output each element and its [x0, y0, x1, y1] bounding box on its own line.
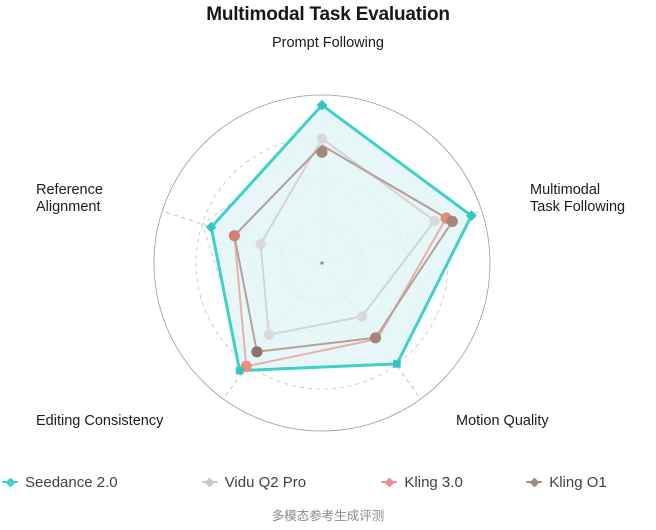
axis-label-editing-consistency: Editing Consistency: [36, 413, 163, 430]
series-seedance-2-0-area: [211, 105, 471, 371]
axis-label-prompt-following: Prompt Following: [0, 35, 656, 52]
diamond-line-marker-icon: [381, 477, 397, 487]
radar-chart-card: Multimodal Task Evaluation: [0, 0, 656, 530]
diamond-line-marker-icon: [526, 477, 542, 487]
axis-label-reference-alignment: Reference Alignment: [36, 182, 166, 216]
diamond-line-marker-icon: [202, 477, 218, 487]
legend-item-kling-o1[interactable]: Kling O1: [526, 474, 656, 491]
chart-legend: Seedance 2.0 Vidu Q2 Pro Kling 3.0 Kling…: [0, 470, 656, 494]
legend-label-kling-o1: Kling O1: [549, 474, 607, 491]
legend-item-vidu-q2-pro[interactable]: Vidu Q2 Pro: [202, 474, 382, 491]
legend-label-seedance-2-0: Seedance 2.0: [25, 474, 118, 491]
radar-svg: [0, 0, 656, 450]
radar-center-dot: [320, 261, 323, 264]
axis-label-multimodal-task-following: Multimodal Task Following: [530, 182, 656, 216]
radar-plot-area: Prompt Following Multimodal Task Followi…: [0, 0, 656, 450]
axis-label-motion-quality: Motion Quality: [456, 413, 549, 430]
legend-label-vidu-q2-pro: Vidu Q2 Pro: [225, 474, 306, 491]
legend-item-kling-3-0[interactable]: Kling 3.0: [381, 474, 526, 491]
diamond-line-marker-icon: [2, 477, 18, 487]
legend-item-seedance-2-0[interactable]: Seedance 2.0: [0, 474, 202, 491]
chart-caption: 多模态参考生成评测: [0, 505, 656, 524]
legend-label-kling-3-0: Kling 3.0: [404, 474, 462, 491]
